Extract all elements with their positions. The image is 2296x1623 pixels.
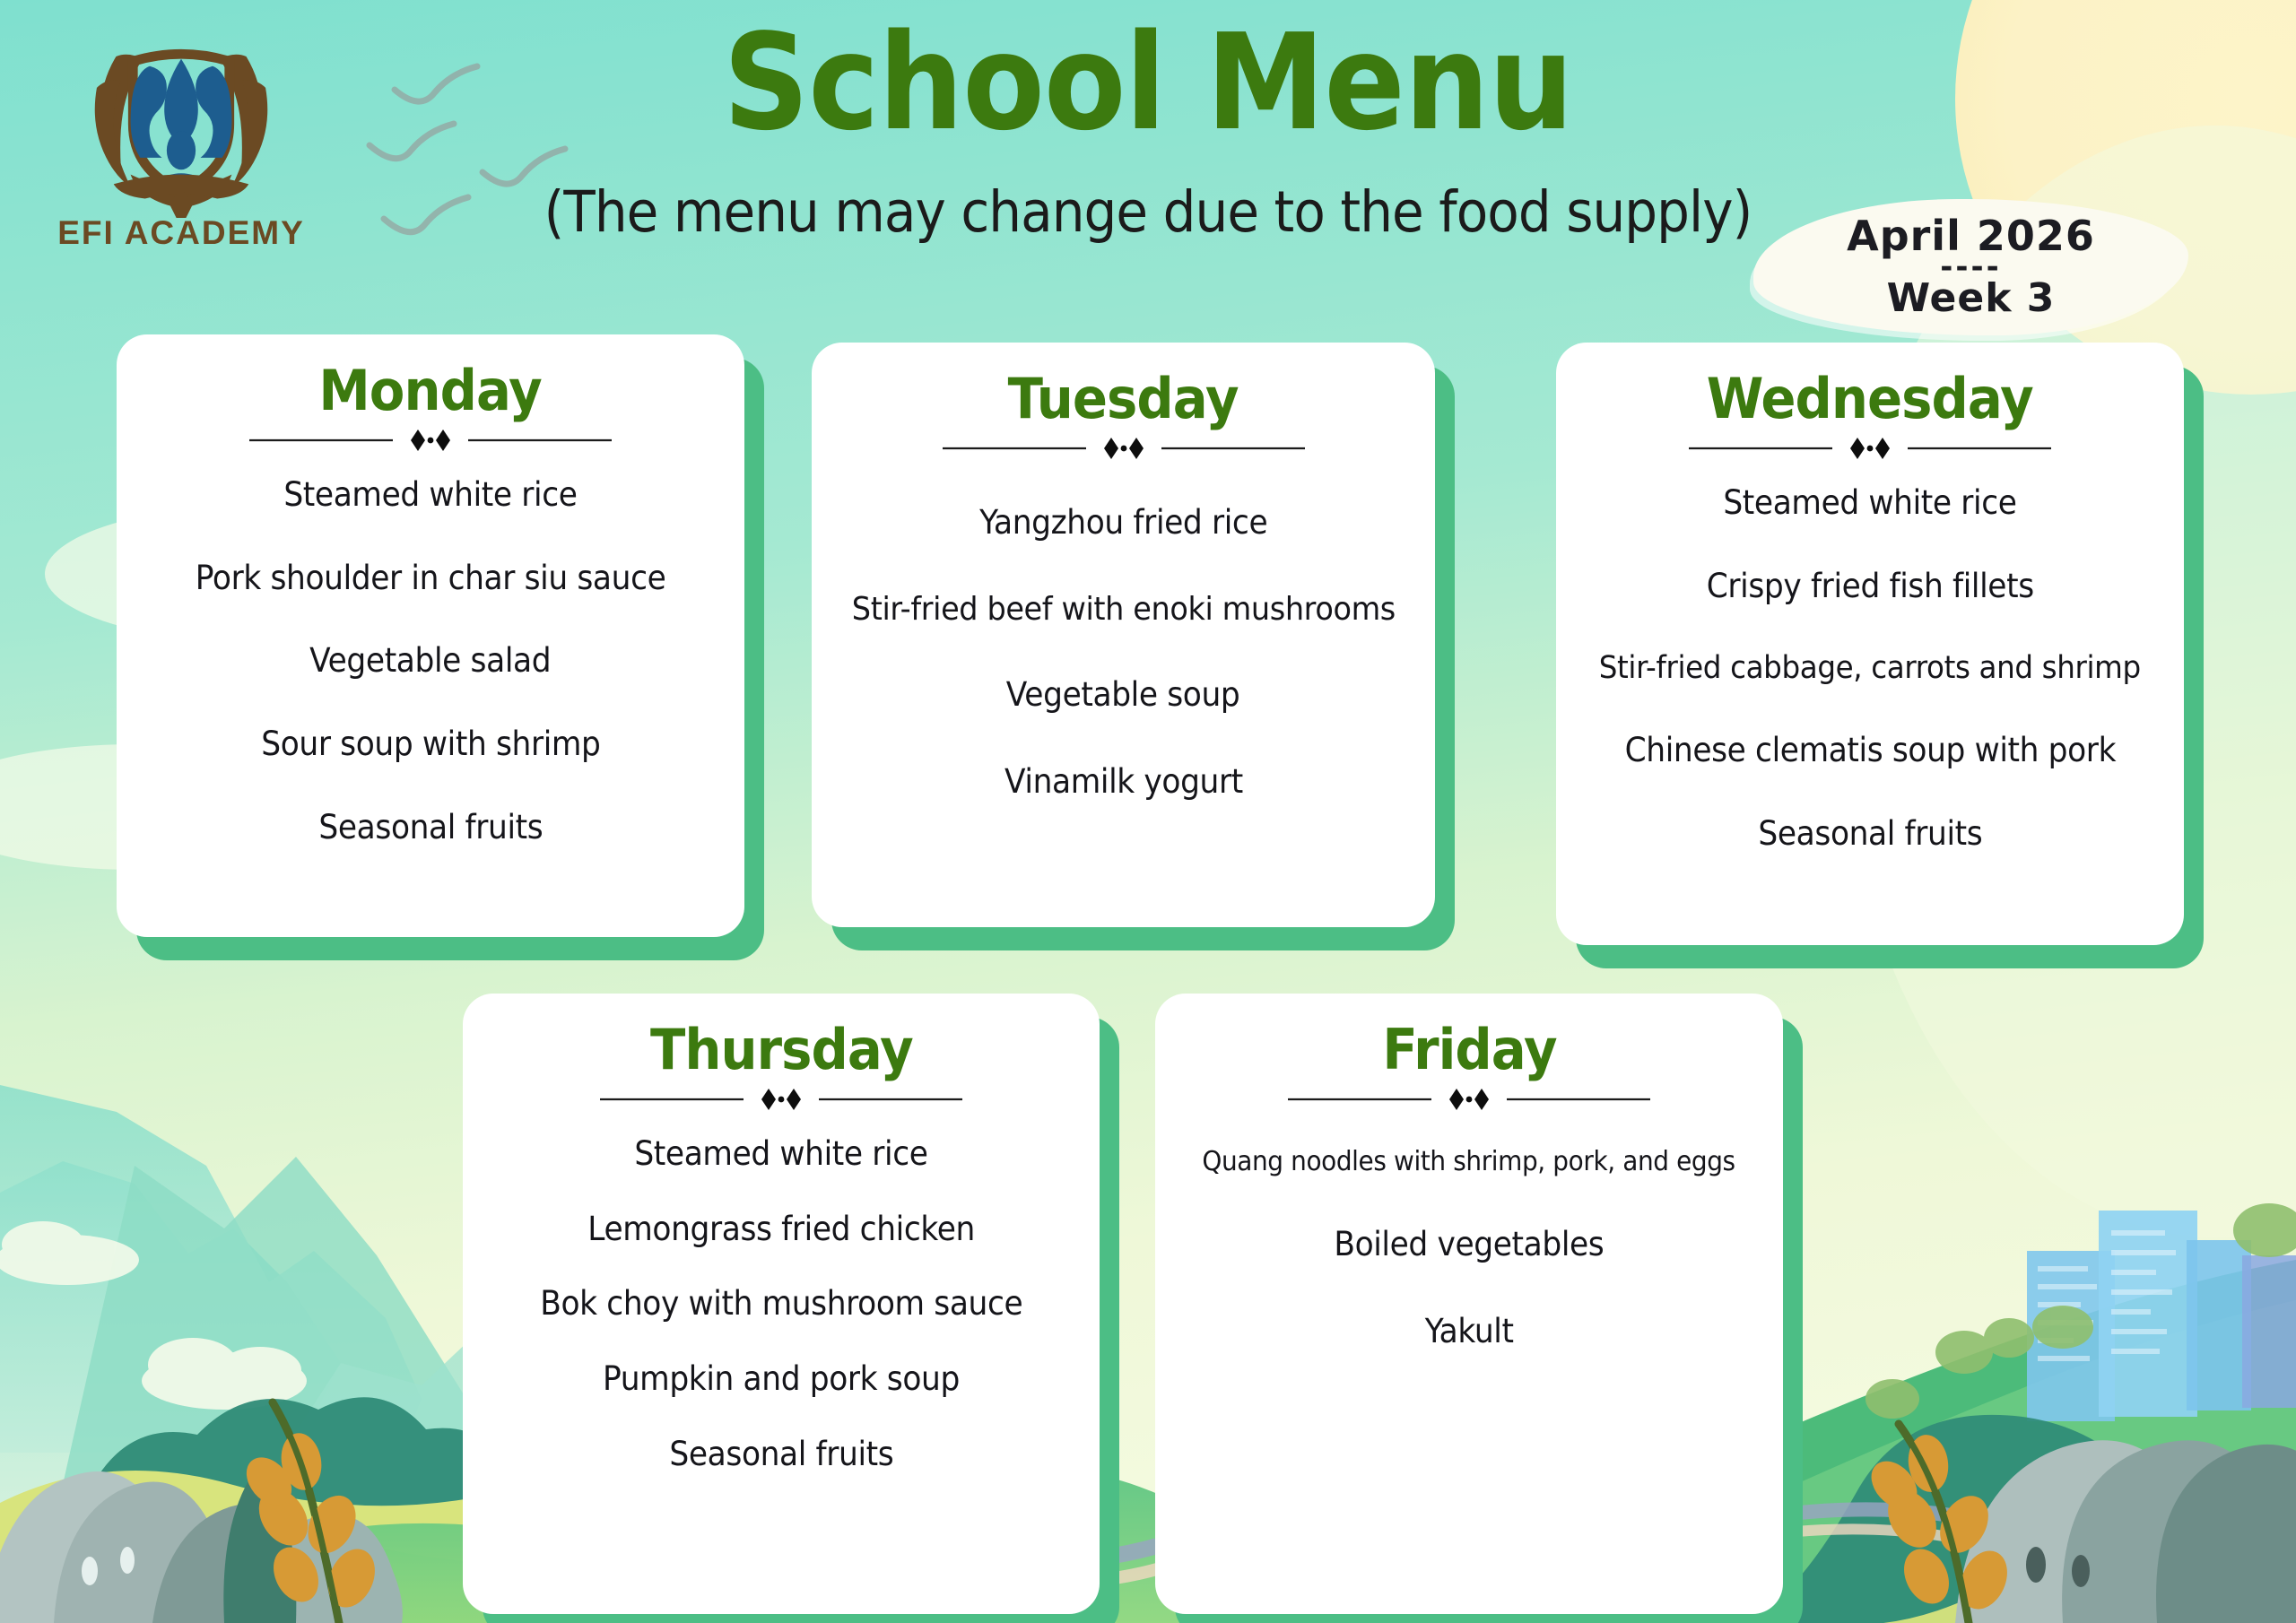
menu-item: Stir-fried cabbage, carrots and shrimp [1599,651,2141,686]
page-title: School Menu [115,16,2181,149]
day-title: Thursday [650,1020,913,1079]
menu-item: Vinamilk yogurt [1004,764,1243,801]
day-title: Friday [1382,1020,1556,1079]
day-title: Wednesday [1707,369,2033,428]
menu-item: Yangzhou fried rice [979,505,1267,542]
day-title: Tuesday [1008,369,1239,428]
sparkle-divider-icon [1682,433,2058,464]
day-title: Monday [319,361,542,420]
menu-item: Vegetable salad [309,643,551,680]
menu-item: Steamed white rice [1723,485,2016,522]
menu-item: Sour soup with shrimp [261,726,600,763]
menu-item: Crispy fried fish fillets [1706,568,2033,605]
badge-text: April 2026 ---- Week 3 [1847,215,2095,319]
day-card-wednesday[interactable]: Wednesday Steamed white riceCrispy fried… [1556,343,2184,945]
day-card-thursday[interactable]: Thursday Steamed white riceLemongrass fr… [463,994,1100,1614]
menu-item-list: Yangzhou fried riceStir-fried beef with … [835,473,1412,851]
sparkle-divider-icon [242,425,619,456]
menu-item: Steamed white rice [283,477,577,514]
menu-item: Vegetable soup [1006,677,1240,714]
brand-name: EFI ACADEMY [47,214,316,252]
menu-item-list: Quang noodles with shrimp, pork, and egg… [1178,1124,1760,1400]
menu-item: Boiled vegetables [1334,1227,1604,1263]
day-card-monday[interactable]: Monday Steamed white ricePork shoulder i… [117,334,744,937]
date-badge: April 2026 ---- Week 3 [1753,199,2188,335]
menu-item: Seasonal fruits [1758,816,1982,853]
menu-item: Pumpkin and pork soup [603,1361,960,1398]
sparkle-divider-icon [935,433,1312,464]
academy-crest-icon [60,25,302,218]
menu-item: Bok choy with mushroom sauce [540,1286,1022,1323]
sparkle-divider-icon [593,1084,970,1115]
menu-item-list: Steamed white riceCrispy fried fish fill… [1579,473,2161,898]
menu-item: Seasonal fruits [669,1436,893,1473]
day-card-tuesday[interactable]: Tuesday Yangzhou fried riceStir-fried be… [812,343,1435,927]
menu-item: Steamed white rice [634,1136,927,1173]
menu-item: Yakult [1425,1314,1514,1350]
brand-logo: EFI ACADEMY [47,25,316,252]
menu-item: Stir-fried beef with enoki mushrooms [851,592,1395,628]
menu-item: Chinese clematis soup with pork [1624,733,2116,769]
menu-item-list: Steamed white ricePork shoulder in char … [140,464,721,892]
day-card-friday[interactable]: Friday Quang noodles with shrimp, pork, … [1155,994,1783,1614]
menu-item: Pork shoulder in char siu sauce [196,560,666,597]
badge-week: Week 3 [1847,279,2095,319]
menu-item: Quang noodles with shrimp, pork, and egg… [1203,1147,1735,1176]
sparkle-divider-icon [1281,1084,1657,1115]
menu-item: Seasonal fruits [318,810,543,846]
menu-item: Lemongrass fried chicken [587,1211,975,1248]
menu-item-list: Steamed white riceLemongrass fried chick… [486,1124,1076,1511]
